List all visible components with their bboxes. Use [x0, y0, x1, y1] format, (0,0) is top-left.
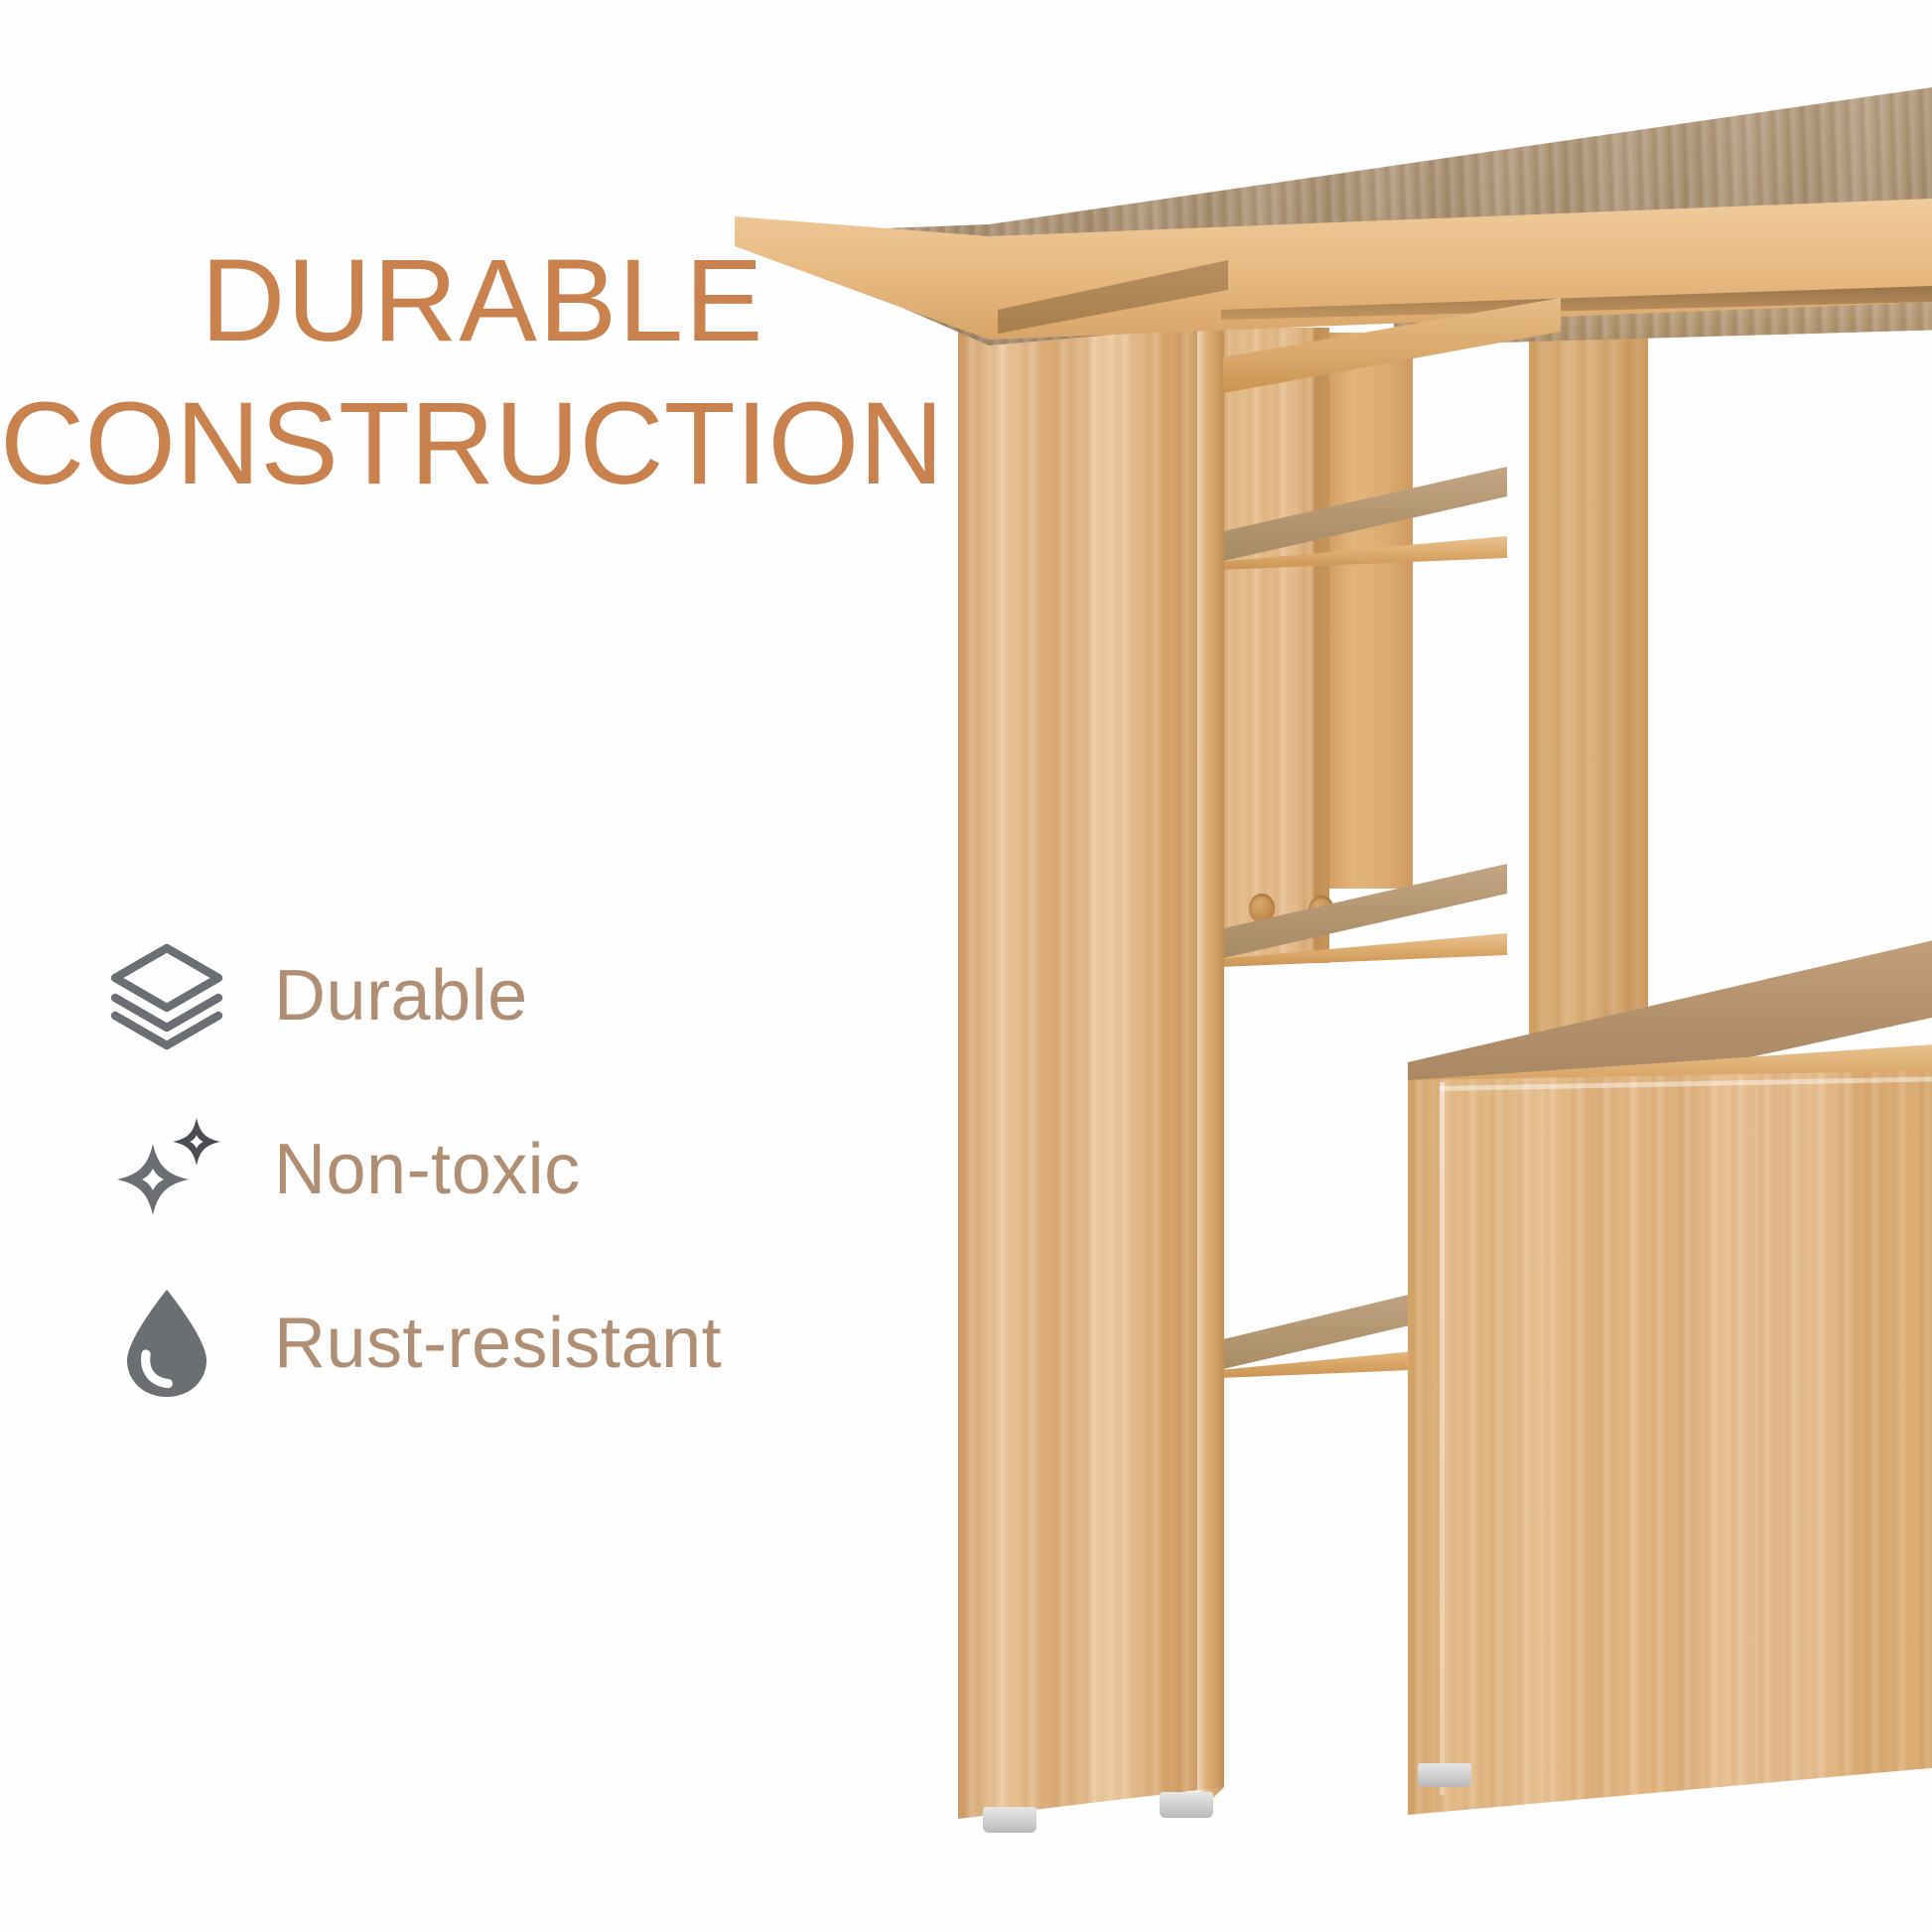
leg-foot-glide — [1418, 1763, 1471, 1787]
main-side-panel — [958, 220, 1224, 1819]
headline: DURABLE CONSTRUCTION — [0, 230, 973, 516]
feature-label-durable: Durable — [234, 955, 528, 1036]
right-upper-post — [1329, 333, 1413, 889]
leg-foot-glide — [983, 1807, 1036, 1833]
cabinet-side-panel — [1408, 1070, 1932, 1815]
center-post-shadow-edge — [1313, 328, 1329, 963]
headline-line-2: CONSTRUCTION — [0, 373, 764, 516]
main-side-panel-edge — [1197, 220, 1224, 1819]
headline-line-1: DURABLE — [0, 230, 764, 373]
sparkle-icon — [95, 1100, 234, 1239]
product-feature-banner: DURABLE CONSTRUCTION Durable — [0, 0, 1932, 1932]
layers-icon — [95, 926, 234, 1065]
droplet-icon — [95, 1274, 234, 1413]
feature-item-non-toxic: Non-toxic — [95, 1082, 949, 1256]
leg-foot-glide — [1160, 1792, 1213, 1818]
feature-item-rust-resistant: Rust-resistant — [95, 1256, 949, 1430]
feature-label-rust-resistant: Rust-resistant — [234, 1303, 722, 1384]
feature-item-durable: Durable — [95, 908, 949, 1082]
feature-list: Durable Non-toxic Rust-res — [95, 908, 949, 1430]
cabinet-panel-reveal-left — [1440, 1082, 1445, 1795]
feature-label-non-toxic: Non-toxic — [234, 1129, 581, 1210]
